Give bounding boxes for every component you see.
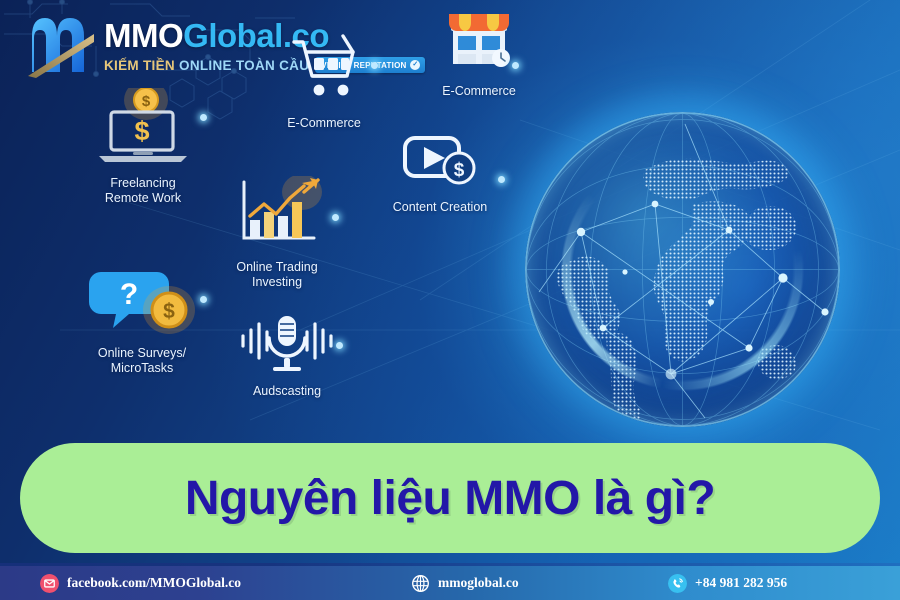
node-label: Content Creation — [370, 200, 510, 215]
check-circle-icon: ✓ — [410, 60, 420, 70]
node-ecommerce-store: E-Commerce — [420, 6, 538, 99]
connector-dot — [200, 114, 207, 121]
node-audscasting: Audscasting — [228, 312, 346, 399]
connector-dot — [336, 342, 343, 349]
node-online-surveys: ? $ Online Surveys/ MicroTasks — [72, 266, 212, 376]
storefront-icon — [439, 6, 519, 74]
svg-text:$: $ — [163, 300, 175, 323]
mmo-m-logo-icon — [16, 10, 100, 82]
svg-text:$: $ — [134, 116, 149, 146]
svg-text:?: ? — [120, 278, 138, 311]
laptop-dollar-icon: $ $ — [91, 88, 195, 166]
video-play-dollar-icon: $ — [397, 130, 483, 190]
footer-bar: facebook.com/MMOGlobal.co mmoglobal.co +… — [0, 566, 900, 600]
tagline-part-gold: KIẾM TIỀN — [104, 58, 175, 73]
bar-chart-arrow-icon — [230, 176, 324, 250]
node-label: E-Commerce — [420, 84, 538, 99]
globe-icon — [411, 574, 430, 593]
svg-text:$: $ — [142, 93, 151, 110]
headline-banner: Nguyên liệu MMO là gì? — [20, 443, 880, 553]
node-freelancing: $ $ Freelancing Remote Work — [78, 88, 208, 206]
globe-rim-highlight — [525, 112, 840, 427]
microphone-waveform-icon — [237, 312, 337, 374]
connector-dot — [512, 62, 519, 69]
footer-item-facebook[interactable]: facebook.com/MMOGlobal.co — [40, 574, 241, 593]
shopping-cart-icon — [286, 30, 362, 106]
node-content-creation: $ Content Creation — [370, 130, 510, 215]
connector-dot — [498, 176, 505, 183]
node-label: Online Trading Investing — [212, 260, 342, 290]
svg-text:$: $ — [454, 160, 465, 181]
footer-website-text: mmoglobal.co — [438, 575, 519, 591]
footer-item-website[interactable]: mmoglobal.co — [411, 574, 519, 593]
poster-canvas: MMOGlobal.co KIẾM TIỀN ONLINE TOÀN CẦU V… — [0, 0, 900, 600]
node-label: Freelancing Remote Work — [78, 176, 208, 206]
connector-dot — [371, 62, 378, 69]
node-label: E-Commerce — [265, 116, 383, 131]
digital-globe-graphic — [470, 60, 890, 460]
node-ecommerce-cart: E-Commerce — [265, 30, 383, 131]
node-label: Audscasting — [228, 384, 346, 399]
node-online-trading: Online Trading Investing — [212, 176, 342, 290]
globe-sphere — [525, 112, 840, 427]
connector-dot — [200, 296, 207, 303]
connector-dot — [332, 214, 339, 221]
banner-headline: Nguyên liệu MMO là gì? — [185, 471, 715, 526]
footer-facebook-text: facebook.com/MMOGlobal.co — [67, 575, 241, 591]
footer-item-phone[interactable]: +84 981 282 956 — [668, 574, 787, 593]
footer-phone-text: +84 981 282 956 — [695, 575, 787, 591]
envelope-icon — [40, 574, 59, 593]
brand-name-primary: MMO — [104, 17, 183, 54]
phone-ring-icon — [668, 574, 687, 593]
question-bubble-coin-icon: ? $ — [87, 266, 197, 336]
node-label: Online Surveys/ MicroTasks — [72, 346, 212, 376]
